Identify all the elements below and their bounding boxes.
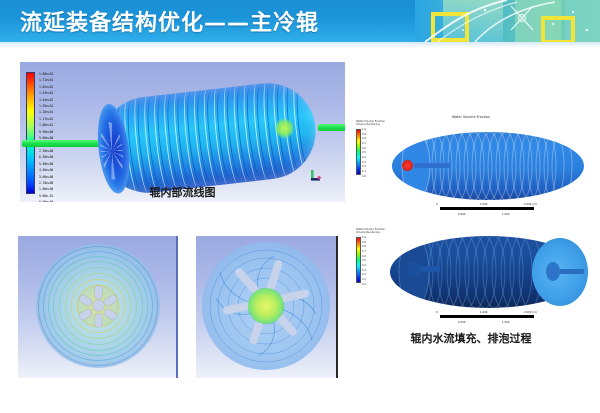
roller-3d-streamline-render: [78, 84, 336, 192]
scale-sub-label: 1.500: [502, 321, 509, 324]
scale-label: 2.000 (m): [524, 311, 537, 314]
scale-label: 0: [436, 311, 438, 314]
legend-tick: 0.4: [362, 156, 366, 161]
section-disc: [202, 242, 330, 370]
legend-tick: 0.0: [362, 175, 366, 180]
scale-label: 0: [436, 203, 438, 206]
scale-label: 1.000: [480, 203, 487, 206]
endcap-swirl-pattern: [98, 121, 126, 181]
legend-label-line2: Volume Rendering: [356, 123, 396, 126]
fill-process-bottom-panel: Water.Volume Fraction Volume Rendering 1…: [352, 222, 590, 327]
header-decoration: [415, 0, 600, 42]
legend-tick-labels: 1.0 0.9 0.8 0.7 0.6 0.5 0.4 0.3 0.2 0.1 …: [362, 128, 366, 179]
fill-process-title: Water Volume Fraction: [352, 115, 590, 119]
legend-tick: 1.0: [362, 128, 366, 133]
title-underline: [0, 42, 600, 48]
roller-surface: [95, 78, 320, 198]
outlet-jet: [318, 124, 345, 131]
legend-tick: 0.7: [362, 250, 366, 255]
slide-title-bar: 流延装备结构优化——主冷辊: [0, 0, 600, 42]
scale-label: 1.000: [480, 311, 487, 314]
scale-sub-label: 1.500: [502, 213, 509, 216]
outlet-hub: [546, 262, 560, 281]
original-section-render: [18, 236, 176, 378]
legend-tick: 0.7: [362, 142, 366, 147]
legend-color-bar: [356, 237, 361, 283]
legend-color-bar: [356, 129, 361, 175]
inlet-shaft: [414, 163, 450, 168]
inlet-marker: [402, 160, 413, 171]
legend-tick: 0.0: [362, 283, 366, 288]
fill-process-top-panel: Water Volume Fraction Water.Volume Fract…: [352, 112, 590, 217]
inlet-hub: [408, 262, 420, 277]
scale-bar: [440, 315, 534, 318]
scale-label: 2.000 (m): [524, 203, 537, 206]
legend-label-line2: Volume Rendering: [356, 231, 396, 234]
roller-volume-render: [392, 132, 584, 200]
optimized-structure-panel: 优化结构: [196, 236, 338, 378]
legend-tick: 0.1: [362, 278, 366, 283]
fill-process-caption: 辊内水流填充、排泡过程: [352, 330, 590, 346]
legend-tick: 0.4: [362, 264, 366, 269]
scale-sub-label: 0.500: [458, 213, 465, 216]
streamline-panel: 1.80e+01 1.71e+01 1.62e+01 1.53e+01 1.44…: [20, 62, 345, 202]
roller-body: [95, 78, 320, 198]
roller-volume-render: [390, 236, 586, 308]
streamline-caption: 辊内部流线图: [20, 184, 345, 200]
inlet-jet: [22, 140, 106, 147]
scale-sub-label: 0.500: [458, 321, 465, 324]
hub-region: [76, 284, 120, 328]
center-high-velocity-core: [248, 288, 284, 324]
optimized-section-render: [196, 236, 336, 378]
water-volume-fraction-legend: Water.Volume Fraction Volume Rendering 1…: [356, 120, 396, 126]
legend-color-bar: [26, 72, 35, 194]
water-volume-fraction-legend: Water.Volume Fraction Volume Rendering 1…: [356, 228, 396, 234]
legend-tick: 1.0: [362, 236, 366, 241]
page-title: 流延装备结构优化——主冷辊: [20, 5, 319, 37]
legend-tick-labels: 1.0 0.9 0.8 0.7 0.6 0.5 0.4 0.3 0.2 0.1 …: [362, 236, 366, 287]
section-disc: [36, 244, 160, 368]
original-structure-panel: 原始结构: [18, 236, 178, 378]
legend-tick: 0.1: [362, 170, 366, 175]
scale-bar: [440, 207, 534, 210]
